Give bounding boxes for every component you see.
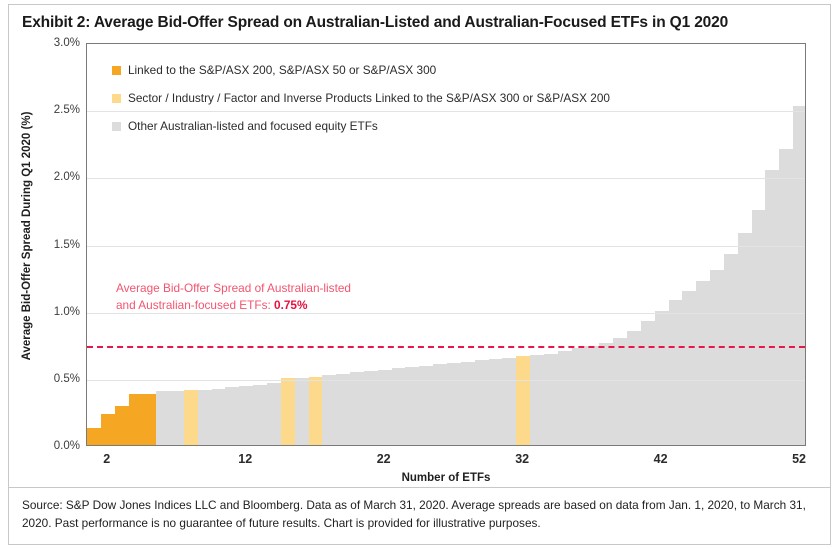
bar [101, 414, 115, 445]
legend-item-other[interactable]: Other Australian-listed and focused equi… [112, 114, 752, 138]
bar [267, 383, 281, 445]
legend-label: Sector / Industry / Factor and Inverse P… [128, 91, 610, 105]
bar [558, 351, 572, 445]
bar [447, 363, 461, 445]
bar [225, 387, 239, 445]
bar [322, 375, 336, 445]
legend-label: Linked to the S&P/ASX 200, S&P/ASX 50 or… [128, 63, 436, 77]
bar [405, 367, 419, 445]
legend-label: Other Australian-listed and focused equi… [128, 119, 378, 133]
bar [793, 106, 806, 445]
bar [309, 377, 323, 446]
legend-item-sector[interactable]: Sector / Industry / Factor and Inverse P… [112, 86, 752, 110]
bar [710, 270, 724, 445]
legend-swatch-icon [112, 66, 121, 75]
x-axis-tick-label: 42 [654, 452, 668, 466]
y-axis-tick-label: 1.0% [28, 306, 80, 318]
legend-swatch-icon [112, 94, 121, 103]
average-spread-annotation: Average Bid-Offer Spread of Australian-l… [116, 280, 446, 314]
average-spread-line [87, 346, 805, 348]
bar [779, 149, 793, 445]
bar [765, 170, 779, 445]
y-axis-tick-label: 0.0% [28, 440, 80, 452]
x-axis-title: Number of ETFs [86, 472, 806, 484]
bar [419, 366, 433, 445]
gridline [87, 178, 805, 179]
bar [433, 364, 447, 445]
bar [253, 385, 267, 445]
footnote-text: Source: S&P Dow Jones Indices LLC and Bl… [22, 496, 817, 532]
bar [613, 338, 627, 445]
chart-legend: Linked to the S&P/ASX 200, S&P/ASX 50 or… [112, 58, 752, 142]
bar [212, 389, 226, 445]
annotation-line-1: Average Bid-Offer Spread of Australian-l… [116, 281, 351, 295]
bar [184, 390, 198, 445]
gridline [87, 246, 805, 247]
bar [696, 281, 710, 445]
bar [156, 391, 170, 445]
y-axis-ticks: 0.0%0.5%1.0%1.5%2.0%2.5%3.0% [20, 43, 80, 446]
y-axis-tick-label: 2.5% [28, 104, 80, 116]
x-axis-tick-label: 2 [103, 452, 110, 466]
footnote-divider [9, 487, 830, 488]
bar [295, 378, 309, 445]
bar [544, 354, 558, 445]
annotation-average-value: 0.75% [274, 298, 307, 312]
bar [142, 394, 156, 445]
bar [530, 355, 544, 445]
bar [129, 394, 143, 445]
x-axis-tick-label: 22 [377, 452, 391, 466]
plot-wrapper: Average Bid-Offer Spread During Q1 2020 … [0, 0, 839, 549]
x-axis-ticks: 21222324252 [86, 452, 806, 472]
x-axis-tick-label: 12 [238, 452, 252, 466]
gridline [87, 380, 805, 381]
bar [198, 390, 212, 445]
y-axis-tick-label: 2.0% [28, 171, 80, 183]
legend-item-core[interactable]: Linked to the S&P/ASX 200, S&P/ASX 50 or… [112, 58, 752, 82]
chart-page: Exhibit 2: Average Bid-Offer Spread on A… [0, 0, 839, 549]
bar [738, 233, 752, 445]
bar [364, 371, 378, 445]
bar [599, 343, 613, 445]
bar [350, 372, 364, 445]
bar [655, 311, 669, 445]
bar [516, 356, 530, 445]
bar [336, 374, 350, 445]
bar [87, 428, 101, 445]
x-axis-tick-label: 52 [792, 452, 806, 466]
bar [489, 359, 503, 445]
bar [502, 358, 516, 445]
annotation-line-2-prefix: and Australian-focused ETFs: [116, 298, 274, 312]
bar [115, 406, 129, 445]
bar [641, 321, 655, 445]
legend-swatch-icon [112, 122, 121, 131]
bar [572, 348, 586, 445]
bar [378, 370, 392, 445]
bar [170, 391, 184, 445]
bar [585, 346, 599, 445]
bar [669, 300, 683, 445]
y-axis-tick-label: 1.5% [28, 239, 80, 251]
bar [724, 254, 738, 445]
bar [475, 360, 489, 445]
y-axis-tick-label: 3.0% [28, 37, 80, 49]
bar [281, 378, 295, 445]
x-axis-tick-label: 32 [515, 452, 529, 466]
bar [239, 386, 253, 445]
y-axis-tick-label: 0.5% [28, 373, 80, 385]
bar [682, 291, 696, 445]
bar [461, 362, 475, 445]
